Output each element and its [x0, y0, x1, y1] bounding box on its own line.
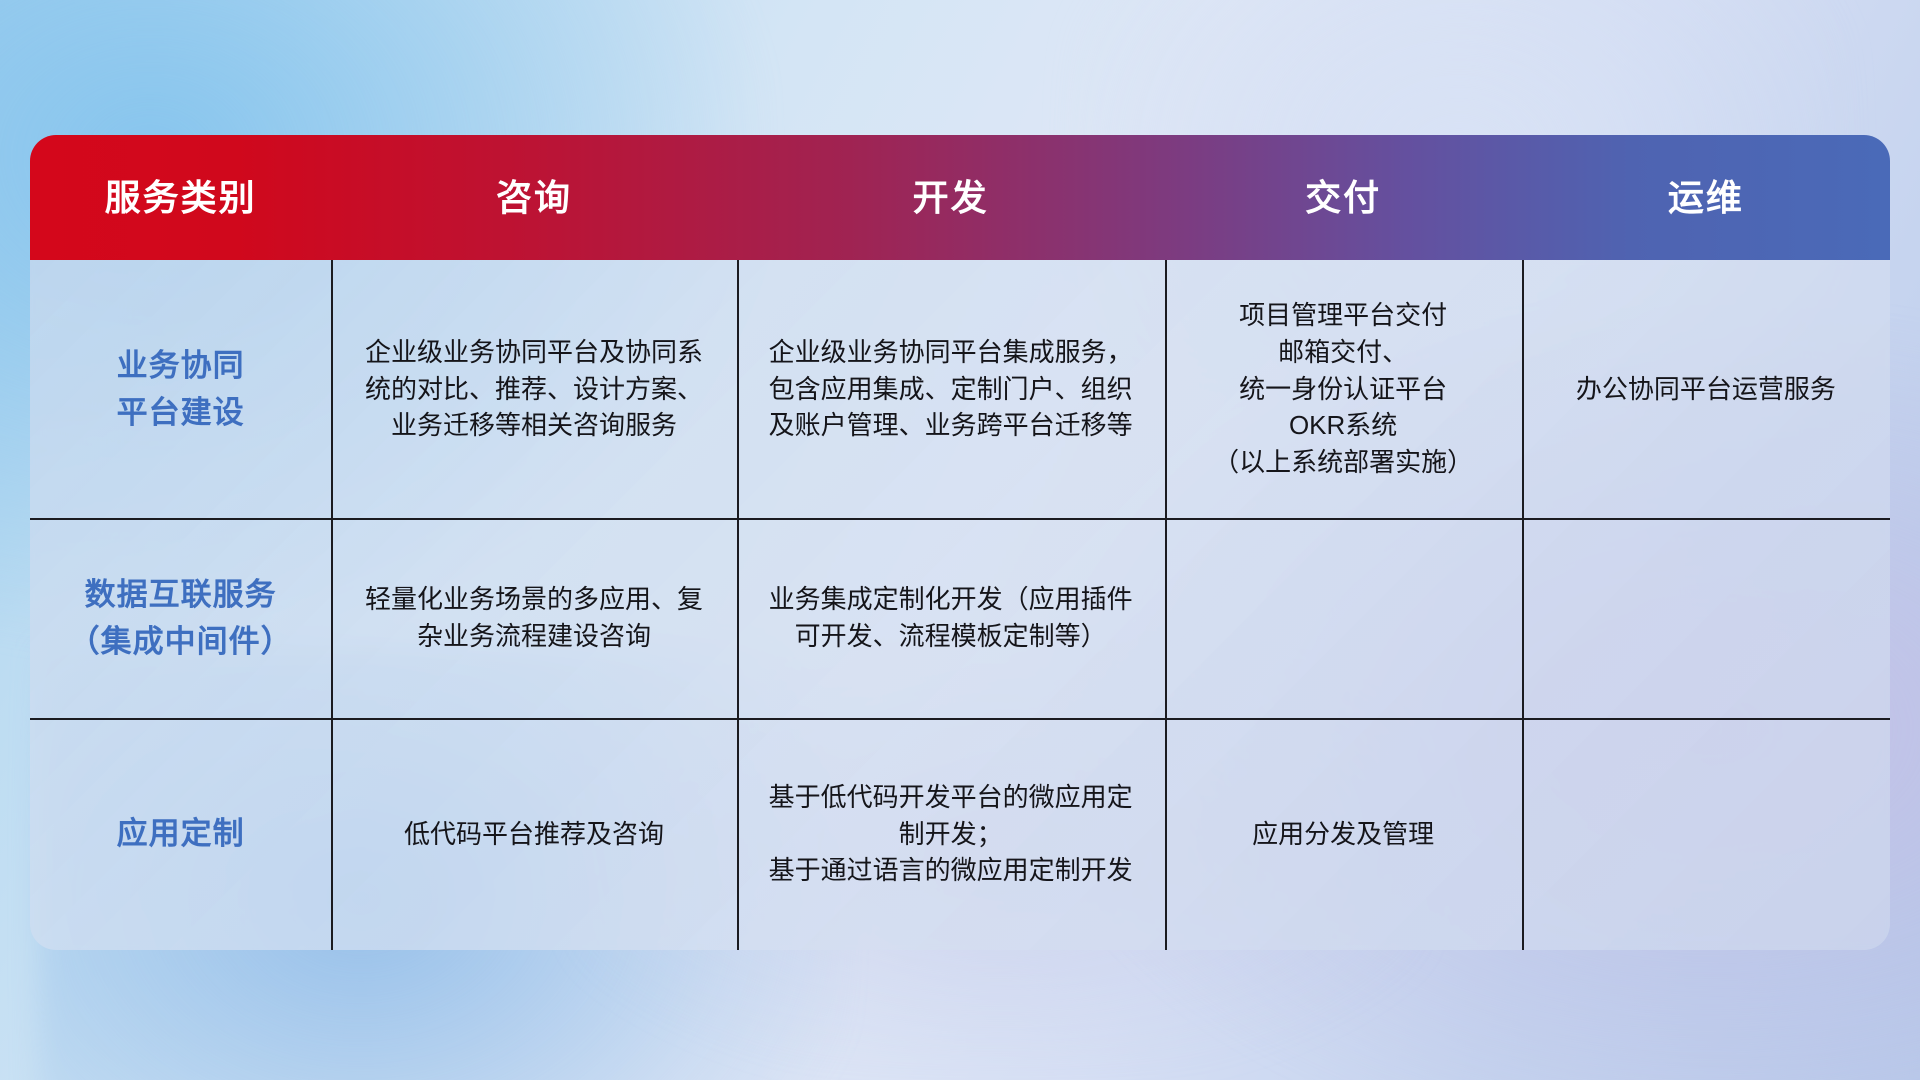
column-header-operations: 运维 — [1522, 135, 1890, 260]
cell-operations: 办公协同平台运营服务 — [1522, 260, 1890, 518]
table-body: 业务协同 平台建设 企业级业务协同平台及协同系 统的对比、推荐、设计方案、 业务… — [30, 260, 1890, 950]
cell-consulting: 轻量化业务场景的多应用、复 杂业务流程建设咨询 — [331, 518, 736, 718]
service-category-table: 服务类别 咨询 开发 交付 运维 业务协同 平台建设 企业级业务协同平台及协同系… — [30, 135, 1890, 950]
cell-delivery: 项目管理平台交付 邮箱交付、 统一身份认证平台 OKR系统 （以上系统部署实施） — [1165, 260, 1522, 518]
cell-development: 业务集成定制化开发（应用插件 可开发、流程模板定制等） — [737, 518, 1165, 718]
column-header-category: 服务类别 — [30, 135, 331, 260]
cell-development: 基于低代码开发平台的微应用定 制开发； 基于通过语言的微应用定制开发 — [737, 718, 1165, 950]
table-header-row: 服务类别 咨询 开发 交付 运维 — [30, 135, 1890, 260]
service-category-table-wrapper: 服务类别 咨询 开发 交付 运维 业务协同 平台建设 企业级业务协同平台及协同系… — [30, 135, 1890, 950]
cell-operations — [1522, 718, 1890, 950]
cell-consulting: 低代码平台推荐及咨询 — [331, 718, 736, 950]
cell-delivery: 应用分发及管理 — [1165, 718, 1522, 950]
column-header-delivery: 交付 — [1165, 135, 1522, 260]
table-row: 业务协同 平台建设 企业级业务协同平台及协同系 统的对比、推荐、设计方案、 业务… — [30, 260, 1890, 518]
cell-category: 数据互联服务 （集成中间件） — [30, 518, 331, 718]
column-header-consulting: 咨询 — [331, 135, 736, 260]
cell-consulting: 企业级业务协同平台及协同系 统的对比、推荐、设计方案、 业务迁移等相关咨询服务 — [331, 260, 736, 518]
cell-category: 业务协同 平台建设 — [30, 260, 331, 518]
table-row: 应用定制 低代码平台推荐及咨询 基于低代码开发平台的微应用定 制开发； 基于通过… — [30, 718, 1890, 950]
cell-operations — [1522, 518, 1890, 718]
table-row: 数据互联服务 （集成中间件） 轻量化业务场景的多应用、复 杂业务流程建设咨询 业… — [30, 518, 1890, 718]
cell-delivery — [1165, 518, 1522, 718]
cell-category: 应用定制 — [30, 718, 331, 950]
cell-development: 企业级业务协同平台集成服务， 包含应用集成、定制门户、组织 及账户管理、业务跨平… — [737, 260, 1165, 518]
column-header-development: 开发 — [737, 135, 1165, 260]
